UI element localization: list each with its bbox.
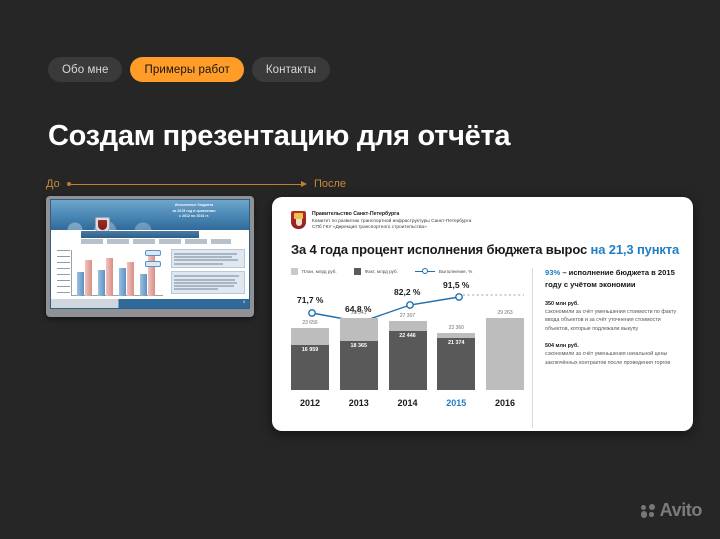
- brand-header: Правительство Санкт-Петербурга Комитет п…: [291, 211, 677, 233]
- legend-label-percent: Выполнение, %: [439, 269, 472, 274]
- percent-label-2014: 82,2 %: [394, 287, 420, 297]
- brand-line-1: Правительство Санкт-Петербурга: [312, 211, 471, 219]
- before-slide-header-text: Исполнение бюджета за 2015 год в сравнен…: [145, 203, 243, 220]
- bar-value-plan-2012: 23 656: [291, 320, 329, 326]
- bar-group-2013: 28 341 18 365: [340, 318, 378, 390]
- before-bar: [119, 268, 126, 296]
- before-slide-header: Исполнение бюджета за 2015 год в сравнен…: [51, 200, 249, 230]
- note-rest-93: – исполнение бюджета в 2015 году с учёто…: [545, 268, 675, 289]
- avito-logo-icon: [641, 504, 655, 518]
- chart-legend: План, млрд руб. Факт, млрд руб. Выполнен…: [291, 266, 524, 276]
- bar-value-fact-2015: 21 374: [437, 340, 475, 346]
- bar-value-plan-2014: 27 307: [389, 313, 427, 319]
- after-slide-card[interactable]: Правительство Санкт-Петербурга Комитет п…: [272, 197, 693, 431]
- before-callout: [145, 250, 161, 256]
- before-slide-page-number: 4: [243, 300, 245, 304]
- before-slide-footer: 4: [51, 299, 249, 308]
- coat-of-arms-icon: [291, 211, 306, 229]
- bar-plan-2013: 28 341: [340, 318, 378, 341]
- nav-item-about[interactable]: Обо мне: [48, 57, 122, 82]
- bar-value-fact-2012: 16 959: [291, 347, 329, 353]
- note-body-504: сэкономили за счёт уменьшения начальной …: [545, 350, 677, 367]
- percent-label-2015: 91,5 %: [443, 280, 469, 290]
- legend-label-fact: Факт, млрд руб.: [365, 269, 398, 274]
- bar-value-plan-2013: 28 341: [340, 310, 378, 316]
- bar-plan-2012: 23 656: [291, 328, 329, 345]
- before-slide-thumbnail[interactable]: Исполнение бюджета за 2015 год в сравнен…: [46, 196, 254, 317]
- before-bar: [106, 258, 113, 296]
- avito-watermark: Avito: [641, 500, 702, 521]
- bar-group-2014: 27 307 22 446: [389, 321, 427, 390]
- note-block-350: 350 млн руб. сэкономили за счёт уменьшен…: [545, 301, 677, 334]
- bar-value-fact-2013: 18 365: [340, 343, 378, 349]
- slide-headline: За 4 года процент исполнения бюджета выр…: [291, 242, 677, 257]
- legend-swatch-plan: [291, 268, 298, 275]
- before-chart-yaxis: [71, 250, 72, 296]
- before-subtitle-lines: [81, 239, 231, 244]
- bar-value-plan-2015: 23 360: [437, 325, 475, 331]
- note-value-504: 504 млн руб.: [545, 343, 677, 349]
- arrow-head-icon: [301, 181, 307, 187]
- note-body-350: сэкономили за счёт уменьшения стоимости …: [545, 308, 677, 334]
- legend-label-plan: План, млрд руб.: [302, 269, 337, 274]
- vertical-divider: [532, 268, 533, 428]
- bar-group-2015: 23 360 21 374: [437, 333, 475, 390]
- legend-item-plan: План, млрд руб.: [291, 268, 337, 275]
- before-label: До: [46, 178, 60, 190]
- x-label-2013: 2013: [340, 398, 378, 408]
- before-callout: [145, 261, 161, 267]
- before-title-strip: [81, 231, 199, 238]
- avito-wordmark: Avito: [660, 500, 702, 521]
- note-value-93: 93%: [545, 268, 560, 277]
- x-label-2014: 2014: [389, 398, 427, 408]
- headline-main: За 4 года процент исполнения бюджета выр…: [291, 242, 587, 257]
- before-text-block: [171, 249, 245, 268]
- arrow-line: [67, 179, 307, 189]
- bar-plan-2016: 29 263: [486, 318, 524, 390]
- page-title: Создам презентацию для отчёта: [48, 120, 510, 153]
- bar-fact-2015: 21 374: [437, 338, 475, 390]
- before-chart-ticks: [57, 250, 70, 294]
- brand-line-3: СПб ГКУ «Дирекция транспортного строител…: [312, 225, 471, 232]
- bar-plan-2014: 27 307: [389, 321, 427, 331]
- nav-item-contacts[interactable]: Контакты: [252, 57, 330, 82]
- chart-x-axis-labels: 2012 2013 2014 2015 2016: [291, 398, 524, 408]
- bar-series: 23 656 16 959 28 341: [291, 312, 524, 390]
- note-block-504: 504 млн руб. сэкономили за счёт уменьшен…: [545, 343, 677, 367]
- arrow-rule: [71, 184, 301, 185]
- legend-swatch-fact: [354, 268, 361, 275]
- bar-fact-2013: 18 365: [340, 341, 378, 390]
- bar-value-fact-2014: 22 446: [389, 333, 427, 339]
- note-title-93: 93% – исполнение бюджета в 2015 году с у…: [545, 267, 677, 291]
- bar-fact-2012: 16 959: [291, 345, 329, 390]
- headline-highlight: на 21,3 пункта: [591, 242, 680, 257]
- before-slide: Исполнение бюджета за 2015 год в сравнен…: [50, 199, 250, 309]
- legend-item-fact: Факт, млрд руб.: [354, 268, 398, 275]
- before-text-block: [171, 271, 245, 294]
- before-after-axis: До После: [46, 176, 346, 192]
- bar-value-plan-2016: 29 263: [486, 310, 524, 316]
- chart-area: План, млрд руб. Факт, млрд руб. Выполнен…: [291, 266, 524, 428]
- before-bar: [127, 262, 134, 296]
- note-value-350: 350 млн руб.: [545, 301, 677, 307]
- chart-plot: 71,7 % 64,8 % 82,2 % 91,5 % 23 656: [291, 280, 524, 408]
- before-bar: [77, 272, 84, 296]
- x-label-2016: 2016: [486, 398, 524, 408]
- before-bar: [85, 260, 92, 296]
- notes-column: 93% – исполнение бюджета в 2015 году с у…: [545, 266, 677, 428]
- before-text-panel: [171, 249, 245, 301]
- nav-pills: Обо мне Примеры работ Контакты: [48, 57, 330, 82]
- x-label-2012: 2012: [291, 398, 329, 408]
- percent-label-2012: 71,7 %: [297, 295, 323, 305]
- before-bar: [140, 274, 147, 296]
- bar-group-2012: 23 656 16 959: [291, 328, 329, 390]
- legend-line-marker-icon: [415, 268, 435, 275]
- before-bar: [98, 270, 105, 296]
- legend-item-percent: Выполнение, %: [415, 268, 472, 275]
- after-label: После: [314, 178, 346, 190]
- bar-group-2016: 29 263: [486, 318, 524, 390]
- before-chart: [57, 247, 165, 302]
- bar-fact-2014: 22 446: [389, 331, 427, 390]
- page-root: Обо мне Примеры работ Контакты Создам пр…: [0, 0, 720, 539]
- note-block-93: 93% – исполнение бюджета в 2015 году с у…: [545, 267, 677, 291]
- x-label-2015: 2015: [437, 398, 475, 408]
- nav-item-portfolio[interactable]: Примеры работ: [130, 57, 243, 82]
